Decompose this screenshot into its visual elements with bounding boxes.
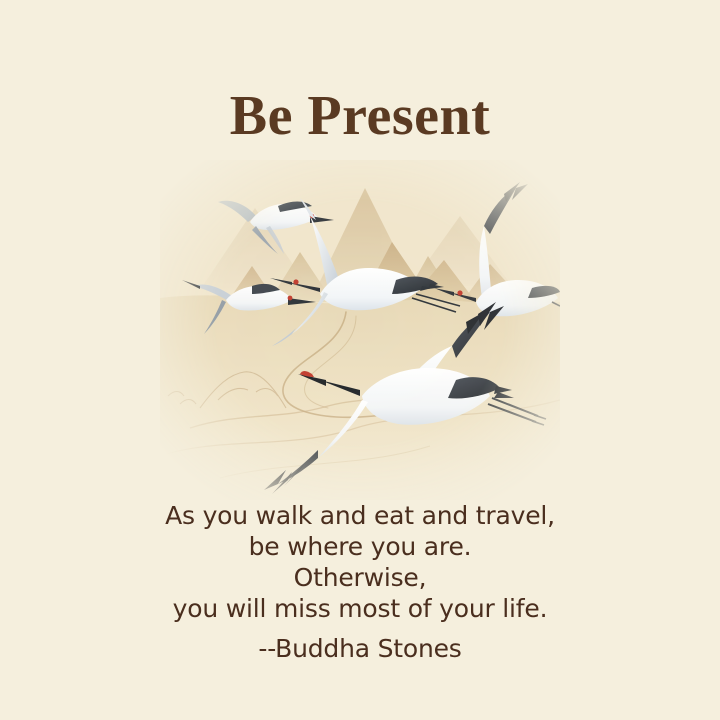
crane-illustration-svg [160,160,560,500]
quote-line-4: you will miss most of your life. [0,593,720,624]
quote-attribution: --Buddha Stones [0,633,720,664]
quote-text: As you walk and eat and travel, be where… [0,500,720,624]
quote-line-2: be where you are. [0,531,720,562]
page-title: Be Present [0,88,720,144]
crane-illustration [160,160,560,500]
quote-line-3: Otherwise, [0,562,720,593]
quote-poster: Be Present [0,0,720,720]
artwork-scene [160,160,560,500]
quote-line-1: As you walk and eat and travel, [0,500,720,531]
